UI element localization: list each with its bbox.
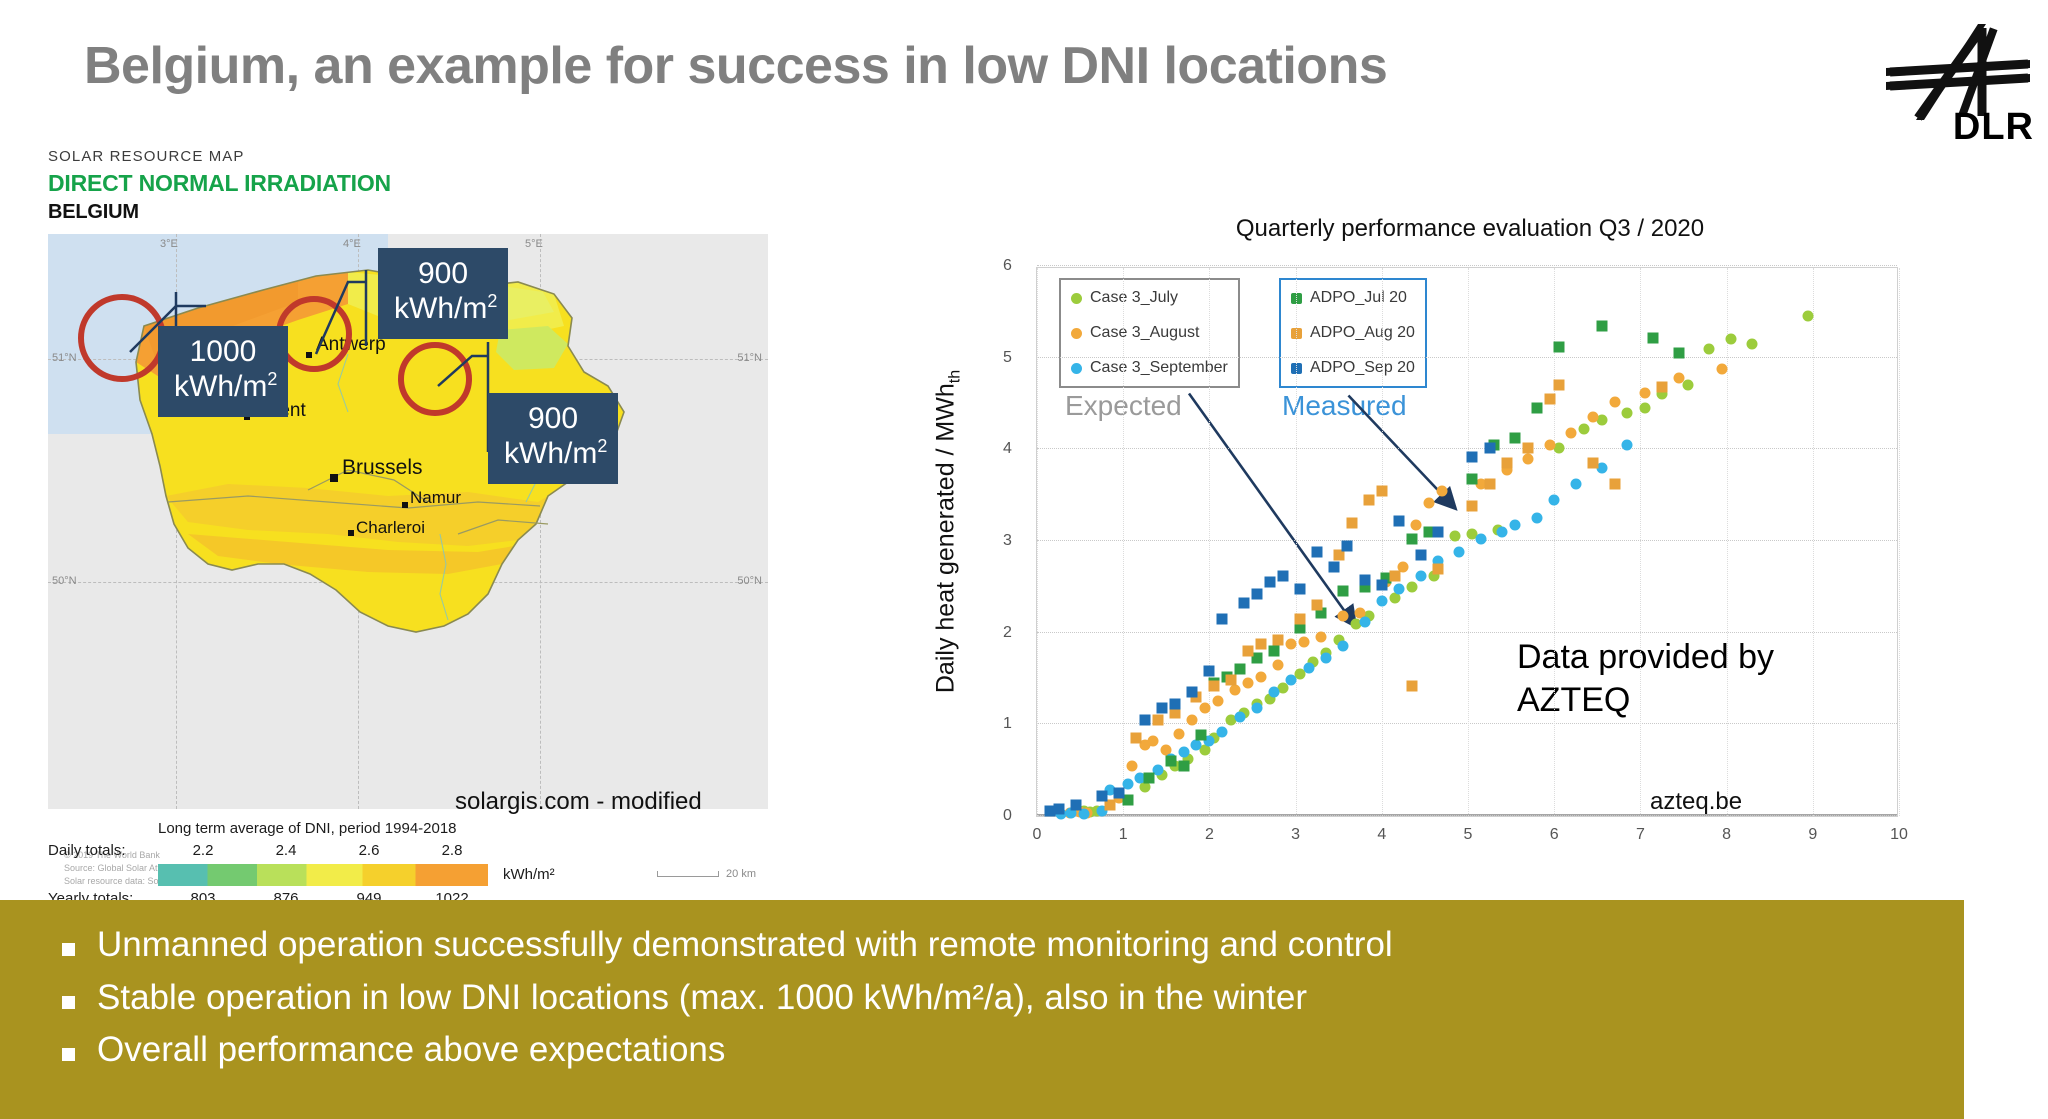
chart-gridline-v bbox=[1037, 268, 1038, 816]
chart-x-tick: 3 bbox=[1291, 826, 1300, 844]
chart-data-point bbox=[1510, 519, 1521, 530]
chart-data-point bbox=[1238, 598, 1249, 609]
chart-gridline-h bbox=[1037, 540, 1897, 541]
chart-data-point bbox=[1174, 728, 1185, 739]
chart-gridline-v bbox=[1640, 268, 1641, 816]
map-callout-900-antwerp: 900 kWh/m2 bbox=[378, 248, 508, 339]
chart-data-point bbox=[1475, 534, 1486, 545]
chart-data-point bbox=[1178, 746, 1189, 757]
chart-data-point bbox=[1609, 396, 1620, 407]
chart-data-point bbox=[1234, 712, 1245, 723]
chart-data-point bbox=[1338, 611, 1349, 622]
chart-gridline-v bbox=[1382, 268, 1383, 816]
chart-data-point bbox=[1070, 800, 1081, 811]
chart-data-point bbox=[1467, 473, 1478, 484]
chart-data-point bbox=[1225, 675, 1236, 686]
chart-data-point bbox=[1359, 574, 1370, 585]
legend-daily-label: Daily totals: bbox=[48, 842, 126, 859]
chart-gridline-h bbox=[1037, 815, 1897, 816]
chart-data-point bbox=[1432, 526, 1443, 537]
legend-label: Case 3_July bbox=[1090, 289, 1178, 307]
chart-data-point bbox=[1286, 638, 1297, 649]
chart-data-point bbox=[1243, 678, 1254, 689]
chart-y-tick: 2 bbox=[1003, 624, 1029, 642]
chart-data-point bbox=[1165, 756, 1176, 767]
bullet-text: Unmanned operation successfully demonstr… bbox=[97, 922, 1393, 968]
chart-data-point bbox=[1053, 803, 1064, 814]
chart-y-tick: 3 bbox=[1003, 532, 1029, 550]
chart-data-point bbox=[1725, 334, 1736, 345]
chart-data-point bbox=[1213, 696, 1224, 707]
bullet-text: Stable operation in low DNI locations (m… bbox=[97, 975, 1307, 1021]
chart-x-tick: 0 bbox=[1033, 826, 1042, 844]
list-item: Stable operation in low DNI locations (m… bbox=[62, 975, 1964, 1021]
scale-bar-graphic bbox=[657, 871, 719, 877]
chart-x-tick: 4 bbox=[1377, 826, 1386, 844]
callout-value: 900 bbox=[504, 401, 602, 436]
chart-data-point bbox=[1243, 646, 1254, 657]
legend-item[interactable]: Case 3_July bbox=[1071, 289, 1228, 307]
chart-data-point bbox=[1204, 666, 1215, 677]
chart-data-point bbox=[1316, 632, 1327, 643]
chart-data-point bbox=[1342, 540, 1353, 551]
map-callout-900-liege: 900 kWh/m2 bbox=[488, 393, 618, 484]
legend-daily-value: 2.8 bbox=[442, 842, 463, 859]
chart-data-point bbox=[1346, 517, 1357, 528]
chart-y-tick: 0 bbox=[1003, 807, 1029, 825]
chart-data-point bbox=[1286, 675, 1297, 686]
chart-x-tick: 2 bbox=[1205, 826, 1214, 844]
chart-data-point bbox=[1406, 534, 1417, 545]
chart-data-point bbox=[1376, 485, 1387, 496]
chart-data-point bbox=[1273, 659, 1284, 670]
legend-label: ADPO_Jul 20 bbox=[1310, 289, 1407, 307]
chart-gridline-v bbox=[1468, 268, 1469, 816]
callout-value: 1000 bbox=[174, 334, 272, 369]
chart-annotation-azteq: Data provided by AZTEQ bbox=[1517, 636, 1774, 721]
dlr-logo: DLR bbox=[1878, 22, 2038, 147]
chart-data-point bbox=[1406, 680, 1417, 691]
chart-legend-measured: ADPO_Jul 20 ADPO_Aug 20 ADPO_Sep 20 bbox=[1279, 278, 1427, 388]
chart-data-point bbox=[1394, 583, 1405, 594]
chart-data-point bbox=[1251, 589, 1262, 600]
legend-swatch-case3-august bbox=[1071, 328, 1082, 339]
legend-swatch-case3-september bbox=[1071, 363, 1082, 374]
callout-exponent: 2 bbox=[267, 369, 277, 389]
chart-gridline-v bbox=[1123, 268, 1124, 816]
page-title: Belgium, an example for success in low D… bbox=[84, 36, 1387, 96]
chart-data-point bbox=[1329, 561, 1340, 572]
slide-root: Belgium, an example for success in low D… bbox=[0, 0, 2048, 1119]
chart-data-point bbox=[1717, 363, 1728, 374]
chart-data-point bbox=[1648, 332, 1659, 343]
chart-x-tick: 9 bbox=[1808, 826, 1817, 844]
dlr-wordmark: DLR bbox=[1953, 106, 2034, 149]
chart-legend-expected: Case 3_July Case 3_August Case 3_Septemb… bbox=[1059, 278, 1240, 388]
legend-item[interactable]: ADPO_Jul 20 bbox=[1291, 289, 1415, 307]
chart-data-point bbox=[1338, 641, 1349, 652]
chart-data-point bbox=[1294, 613, 1305, 624]
chart-data-point bbox=[1131, 733, 1142, 744]
chart-data-point bbox=[1126, 760, 1137, 771]
map-header-country: BELGIUM bbox=[48, 201, 768, 224]
chart-y-tick: 6 bbox=[1003, 257, 1029, 275]
chart-data-point bbox=[1178, 760, 1189, 771]
legend-label: ADPO_Aug 20 bbox=[1310, 324, 1415, 342]
summary-bullets-bar: Unmanned operation successfully demonstr… bbox=[0, 900, 1964, 1119]
chart-gridline-v bbox=[1727, 268, 1728, 816]
chart-data-point bbox=[1096, 790, 1107, 801]
list-item: Overall performance above expectations bbox=[62, 1027, 1964, 1073]
chart-data-point bbox=[1437, 485, 1448, 496]
chart-data-point bbox=[1187, 714, 1198, 725]
chart-data-point bbox=[1376, 580, 1387, 591]
legend-label: ADPO_Sep 20 bbox=[1310, 359, 1415, 377]
chart-data-point bbox=[1674, 372, 1685, 383]
chart-gridline-v bbox=[1899, 268, 1900, 816]
chart-data-point bbox=[1294, 583, 1305, 594]
chart-gridline-h bbox=[1037, 632, 1897, 633]
chart-data-point bbox=[1139, 714, 1150, 725]
chart-y-axis-label: Daily heat generated / MWhth bbox=[932, 370, 965, 693]
chart-data-point bbox=[1394, 515, 1405, 526]
chart-x-tick: 1 bbox=[1119, 826, 1128, 844]
map-header-main: DIRECT NORMAL IRRADIATION bbox=[48, 170, 768, 197]
chart-data-point bbox=[1682, 380, 1693, 391]
legend-title: Long term average of DNI, period 1994-20… bbox=[158, 820, 457, 837]
map-callout-1000: 1000 kWh/m2 bbox=[158, 326, 288, 417]
chart-data-point bbox=[1251, 702, 1262, 713]
map-source-caption: solargis.com - modified bbox=[455, 788, 702, 816]
chart-x-tick: 7 bbox=[1636, 826, 1645, 844]
chart-data-point bbox=[1570, 479, 1581, 490]
chart-data-point bbox=[1256, 638, 1267, 649]
chart-data-point bbox=[1639, 387, 1650, 398]
chart-data-point bbox=[1113, 788, 1124, 799]
chart-data-point bbox=[1531, 513, 1542, 524]
chart-data-point bbox=[1484, 442, 1495, 453]
chart-data-point bbox=[1432, 563, 1443, 574]
chart-data-point bbox=[1747, 338, 1758, 349]
chart-data-point bbox=[1269, 687, 1280, 698]
legend-color-ramp bbox=[158, 864, 488, 886]
chart-data-point bbox=[1234, 664, 1245, 675]
chart-data-point bbox=[1415, 549, 1426, 560]
chart-data-point bbox=[1195, 730, 1206, 741]
chart-data-point bbox=[1269, 646, 1280, 657]
bullet-square-icon bbox=[62, 943, 75, 956]
chart-data-point bbox=[1156, 702, 1167, 713]
chart-y-tick: 4 bbox=[1003, 440, 1029, 458]
chart-y-tick: 1 bbox=[1003, 715, 1029, 733]
scale-bar-label: 20 km bbox=[726, 868, 756, 880]
solar-resource-map-panel: SOLAR RESOURCE MAP DIRECT NORMAL IRRADIA… bbox=[48, 148, 768, 898]
chart-data-point bbox=[1704, 343, 1715, 354]
chart-gridline-h bbox=[1037, 723, 1897, 724]
chart-data-point bbox=[1544, 439, 1555, 450]
chart-data-point bbox=[1264, 577, 1275, 588]
chart-data-point bbox=[1549, 494, 1560, 505]
callout-unit: kWh/m bbox=[174, 370, 267, 403]
chart-plot-area: Case 3_July Case 3_August Case 3_Septemb… bbox=[1036, 267, 1898, 817]
chart-data-point bbox=[1674, 348, 1685, 359]
chart-gridline-v bbox=[1813, 268, 1814, 816]
chart-data-point bbox=[1200, 702, 1211, 713]
chart-gridline-h bbox=[1037, 265, 1897, 266]
chart-source-caption: azteq.be bbox=[1650, 788, 1742, 816]
chart-data-point bbox=[1273, 635, 1284, 646]
chart-data-point bbox=[1510, 433, 1521, 444]
chart-data-point bbox=[1587, 412, 1598, 423]
callout-exponent: 2 bbox=[487, 291, 497, 311]
legend-label: Case 3_September bbox=[1090, 359, 1228, 377]
chart-data-point bbox=[1450, 531, 1461, 542]
azteq-line-2: AZTEQ bbox=[1517, 679, 1774, 722]
callout-value: 900 bbox=[394, 256, 492, 291]
chart-gridline-h bbox=[1037, 357, 1897, 358]
chart-data-point bbox=[1639, 403, 1650, 414]
bullet-text: Overall performance above expectations bbox=[97, 1027, 725, 1073]
legend-item[interactable]: Case 3_September bbox=[1071, 359, 1228, 377]
chart-data-point bbox=[1501, 458, 1512, 469]
chart-data-point bbox=[1208, 680, 1219, 691]
legend-item[interactable]: Case 3_August bbox=[1071, 324, 1228, 342]
chart-x-tick: 6 bbox=[1550, 826, 1559, 844]
callout-unit: kWh/m bbox=[394, 292, 487, 325]
chart-data-point bbox=[1622, 407, 1633, 418]
chart-x-tick: 8 bbox=[1722, 826, 1731, 844]
legend-daily-value: 2.6 bbox=[359, 842, 380, 859]
chart-data-point bbox=[1566, 427, 1577, 438]
chart-data-point bbox=[1152, 714, 1163, 725]
chart-data-point bbox=[1320, 653, 1331, 664]
chart-x-tick: 5 bbox=[1464, 826, 1473, 844]
chart-annotation-measured: Measured bbox=[1282, 390, 1407, 422]
chart-data-point bbox=[1531, 403, 1542, 414]
legend-swatch-case3-july bbox=[1071, 293, 1082, 304]
map-header-small: SOLAR RESOURCE MAP bbox=[48, 148, 768, 165]
chart-gridline-v bbox=[1296, 268, 1297, 816]
legend-daily-value: 2.2 bbox=[193, 842, 214, 859]
chart-data-point bbox=[1376, 595, 1387, 606]
chart-data-point bbox=[1656, 382, 1667, 393]
chart-data-point bbox=[1579, 424, 1590, 435]
chart-data-point bbox=[1497, 526, 1508, 537]
map-scale-bar: 20 km bbox=[657, 868, 756, 880]
chart-data-point bbox=[1406, 581, 1417, 592]
chart-data-point bbox=[1169, 699, 1180, 710]
chart-data-point bbox=[1217, 613, 1228, 624]
bullet-square-icon bbox=[62, 996, 75, 1009]
chart-data-point bbox=[1609, 479, 1620, 490]
azteq-line-1: Data provided by bbox=[1517, 636, 1774, 679]
chart-data-point bbox=[1553, 341, 1564, 352]
chart-data-point bbox=[1553, 380, 1564, 391]
chart-y-tick: 5 bbox=[1003, 349, 1029, 367]
chart-data-point bbox=[1467, 451, 1478, 462]
chart-data-point bbox=[1144, 772, 1155, 783]
chart-data-point bbox=[1187, 687, 1198, 698]
chart-data-point bbox=[1544, 393, 1555, 404]
chart-data-point bbox=[1256, 671, 1267, 682]
chart-data-point bbox=[1312, 600, 1323, 611]
chart-data-point bbox=[1523, 442, 1534, 453]
chart-data-point bbox=[1411, 519, 1422, 530]
chart-data-point bbox=[1217, 726, 1228, 737]
chart-x-tick: 10 bbox=[1890, 826, 1908, 844]
chart-data-point bbox=[1622, 439, 1633, 450]
legend-item[interactable]: ADPO_Sep 20 bbox=[1291, 359, 1415, 377]
chart-data-point bbox=[1415, 570, 1426, 581]
chart-data-point bbox=[1338, 586, 1349, 597]
chart-gridline-h bbox=[1037, 448, 1897, 449]
legend-label: Case 3_August bbox=[1090, 324, 1199, 342]
chart-data-point bbox=[1359, 616, 1370, 627]
chart-data-point bbox=[1587, 458, 1598, 469]
bullet-square-icon bbox=[62, 1048, 75, 1061]
chart-data-point bbox=[1523, 453, 1534, 464]
chart-data-point bbox=[1454, 547, 1465, 558]
list-item: Unmanned operation successfully demonstr… bbox=[62, 922, 1964, 968]
chart-data-point bbox=[1312, 547, 1323, 558]
chart-data-point bbox=[1303, 662, 1314, 673]
chart-data-point bbox=[1484, 479, 1495, 490]
chart-data-point bbox=[1596, 320, 1607, 331]
chart-data-point bbox=[1467, 501, 1478, 512]
chart-data-point bbox=[1148, 735, 1159, 746]
legend-unit: kWh/m² bbox=[503, 866, 555, 883]
chart-title: Quarterly performance evaluation Q3 / 20… bbox=[990, 215, 1950, 243]
chart-data-point bbox=[1803, 311, 1814, 322]
chart-data-point bbox=[1299, 636, 1310, 647]
chart-data-point bbox=[1424, 497, 1435, 508]
callout-unit: kWh/m bbox=[504, 437, 597, 470]
legend-daily-value: 2.4 bbox=[276, 842, 297, 859]
callout-exponent: 2 bbox=[597, 436, 607, 456]
summary-bullets-list: Unmanned operation successfully demonstr… bbox=[0, 900, 1964, 1073]
chart-data-point bbox=[1389, 570, 1400, 581]
legend-item[interactable]: ADPO_Aug 20 bbox=[1291, 324, 1415, 342]
chart-data-point bbox=[1363, 494, 1374, 505]
chart-data-point bbox=[1277, 570, 1288, 581]
performance-chart-panel: Quarterly performance evaluation Q3 / 20… bbox=[990, 215, 1950, 835]
